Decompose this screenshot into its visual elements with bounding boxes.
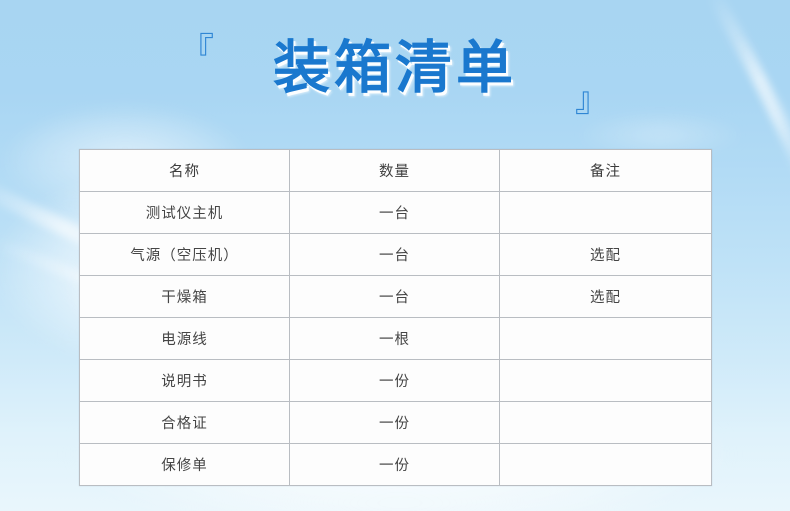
column-header-remark: 备注: [500, 150, 712, 192]
cell-item-quantity: 一台: [290, 192, 500, 234]
packing-list-page: 『 装箱清单 』 名称 数量 备注 测试仪主机一台气源（空压机）一台选配干燥箱一…: [0, 0, 790, 511]
cell-item-quantity: 一份: [290, 444, 500, 486]
table-header: 名称 数量 备注: [80, 150, 712, 192]
column-header-quantity: 数量: [290, 150, 500, 192]
table-body: 测试仪主机一台气源（空压机）一台选配干燥箱一台选配电源线一根说明书一份合格证一份…: [80, 192, 712, 486]
table-row: 保修单一份: [80, 444, 712, 486]
cell-item-quantity: 一台: [290, 276, 500, 318]
table-header-row: 名称 数量 备注: [80, 150, 712, 192]
cell-item-remark: [500, 360, 712, 402]
cell-item-name: 说明书: [80, 360, 290, 402]
cell-item-name: 气源（空压机）: [80, 234, 290, 276]
cell-item-remark: 选配: [500, 276, 712, 318]
packing-table-container: 名称 数量 备注 测试仪主机一台气源（空压机）一台选配干燥箱一台选配电源线一根说…: [79, 149, 711, 478]
table-row: 合格证一份: [80, 402, 712, 444]
page-title: 装箱清单: [0, 33, 790, 103]
cell-item-name: 电源线: [80, 318, 290, 360]
packing-table: 名称 数量 备注 测试仪主机一台气源（空压机）一台选配干燥箱一台选配电源线一根说…: [79, 149, 712, 486]
cell-item-remark: [500, 444, 712, 486]
cell-item-quantity: 一根: [290, 318, 500, 360]
cell-item-remark: [500, 402, 712, 444]
cell-item-quantity: 一台: [290, 234, 500, 276]
cell-item-remark: [500, 192, 712, 234]
table-row: 电源线一根: [80, 318, 712, 360]
table-row: 说明书一份: [80, 360, 712, 402]
cell-item-quantity: 一份: [290, 360, 500, 402]
corner-bracket-right-icon: 』: [575, 83, 609, 117]
column-header-name: 名称: [80, 150, 290, 192]
table-row: 测试仪主机一台: [80, 192, 712, 234]
table-row: 干燥箱一台选配: [80, 276, 712, 318]
table-row: 气源（空压机）一台选配: [80, 234, 712, 276]
title-block: 『 装箱清单 』: [0, 0, 790, 140]
cell-item-quantity: 一份: [290, 402, 500, 444]
cell-item-remark: [500, 318, 712, 360]
cell-item-name: 保修单: [80, 444, 290, 486]
cell-item-name: 合格证: [80, 402, 290, 444]
cell-item-remark: 选配: [500, 234, 712, 276]
cell-item-name: 测试仪主机: [80, 192, 290, 234]
cell-item-name: 干燥箱: [80, 276, 290, 318]
